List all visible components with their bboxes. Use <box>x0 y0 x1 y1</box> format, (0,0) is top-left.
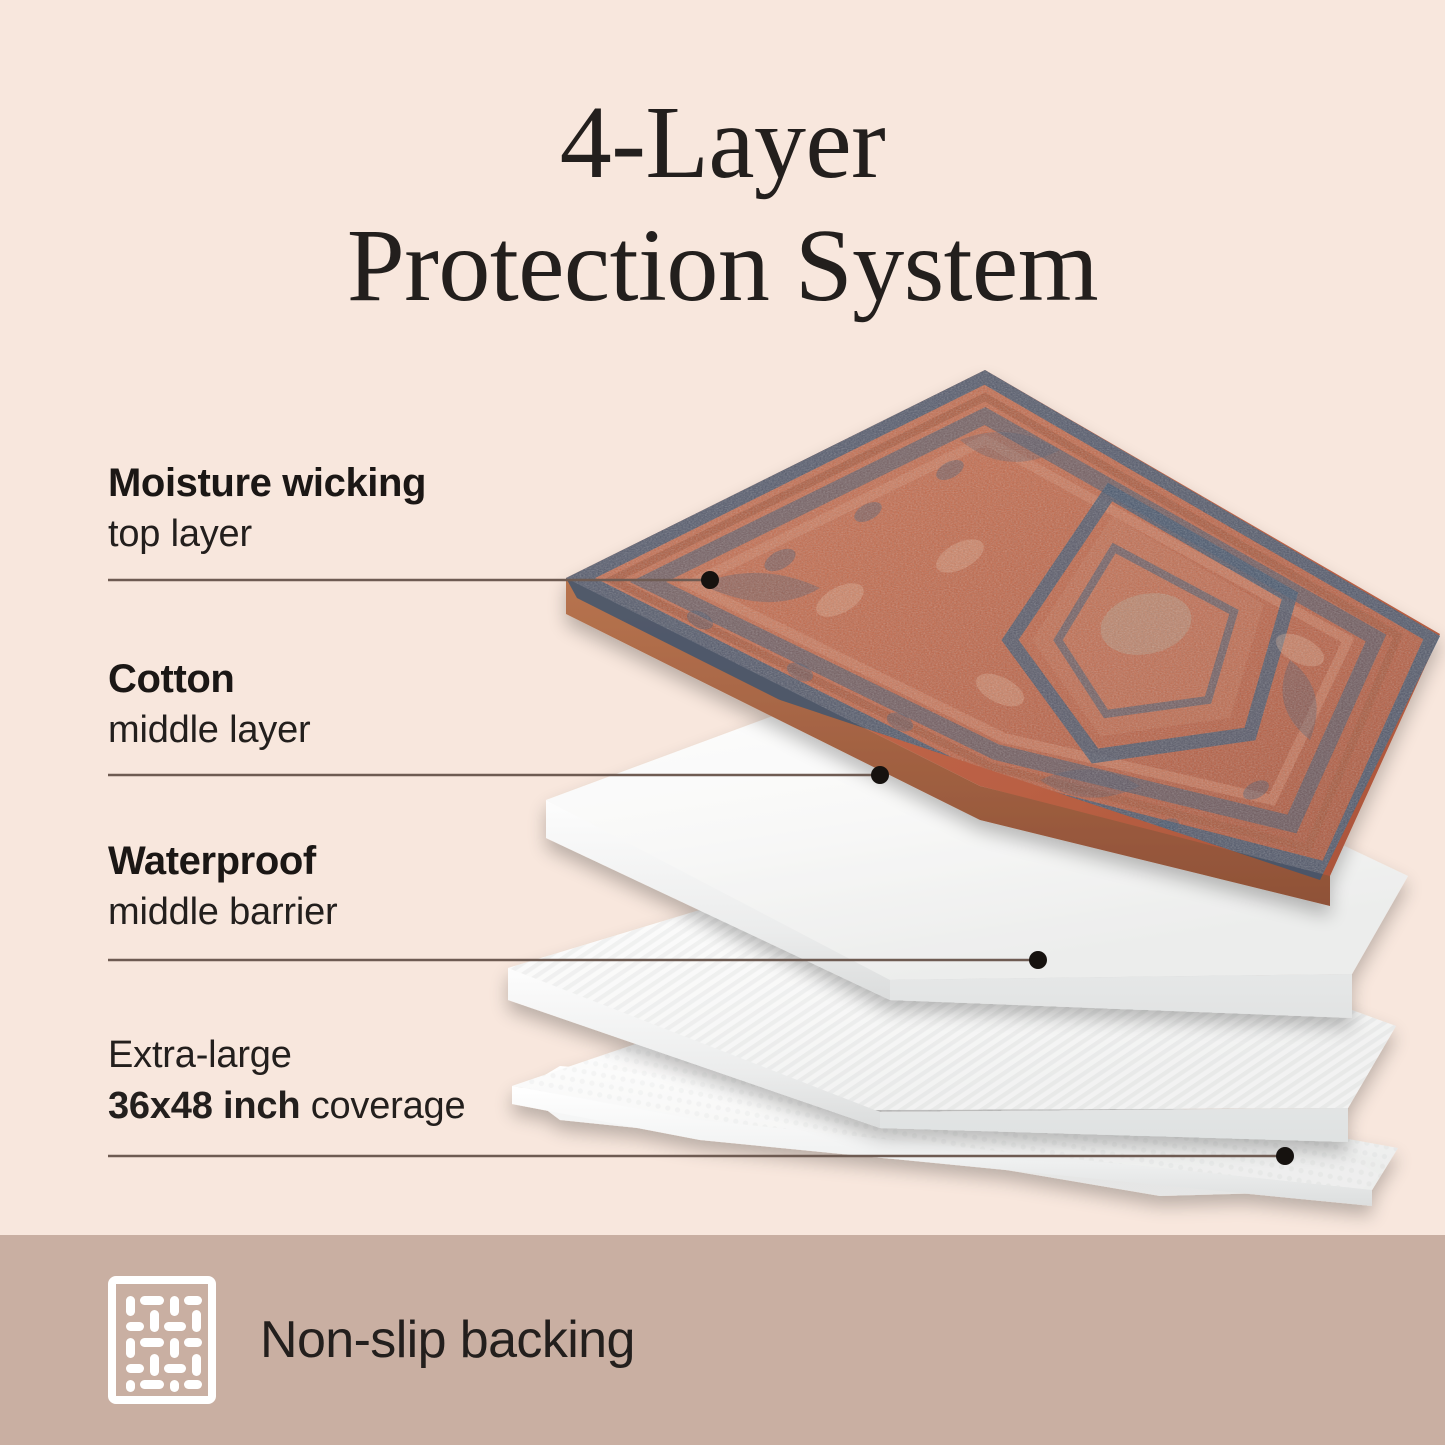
leader-dot-1 <box>701 571 719 589</box>
label-title-moisture-wicking: Moisture wicking <box>108 462 426 505</box>
non-slip-banner-text: Non-slip backing <box>260 1310 635 1370</box>
label-title-cotton: Cotton <box>108 658 310 701</box>
non-slip-banner: Non-slip backing <box>0 1235 1445 1445</box>
label-sub-cotton: middle layer <box>108 709 310 752</box>
label-size-suffix: coverage <box>300 1085 465 1127</box>
label-block-moisture-wicking: Moisture wicking top layer <box>108 462 426 556</box>
label-block-cotton: Cotton middle layer <box>108 658 310 752</box>
infographic-canvas: 4-Layer Protection System <box>0 0 1445 1445</box>
label-sub-waterproof: middle barrier <box>108 891 338 934</box>
label-size-value: 36x48 inch <box>108 1085 300 1127</box>
leader-dot-4 <box>1276 1147 1294 1165</box>
label-size-line-1: Extra-large <box>108 1034 465 1077</box>
label-block-waterproof: Waterproof middle barrier <box>108 840 338 934</box>
leader-dot-2 <box>871 766 889 784</box>
leader-dot-3 <box>1029 951 1047 969</box>
label-size-line-2: 36x48 inch coverage <box>108 1085 465 1128</box>
label-block-size: Extra-large 36x48 inch coverage <box>108 1034 465 1127</box>
label-sub-moisture-wicking: top layer <box>108 513 426 556</box>
label-title-waterproof: Waterproof <box>108 840 338 883</box>
non-slip-grip-icon <box>108 1276 216 1404</box>
